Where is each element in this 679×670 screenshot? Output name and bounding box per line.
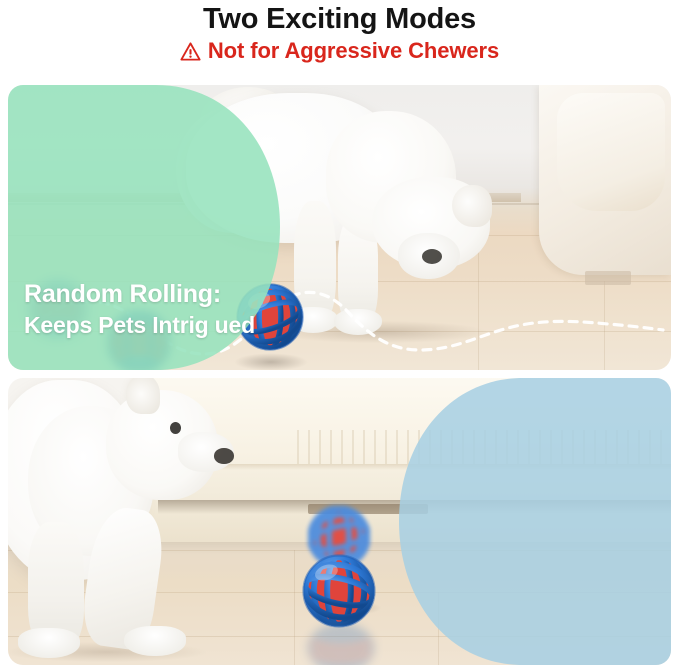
rolling-heading: Random Rolling: <box>24 279 255 310</box>
dog-samoyed-playbow <box>8 380 242 660</box>
toy-ball-bouncing-lower <box>302 554 376 628</box>
header: Two Exciting Modes Not for Aggressive Ch… <box>0 0 679 64</box>
warning-row: Not for Aggressive Chewers <box>0 38 679 64</box>
floor-plank-line <box>294 550 295 665</box>
dog-nose <box>214 448 234 464</box>
dog-eye <box>170 422 181 434</box>
sofa-armrest <box>557 93 665 211</box>
dog-paw <box>18 628 80 658</box>
warning-text: Not for Aggressive Chewers <box>208 38 499 64</box>
toy-ball-floor-reflection <box>306 622 376 665</box>
dog-ear <box>452 185 492 227</box>
panel-random-rolling: Random Rolling: Keeps Pets Intrig ued <box>8 85 671 370</box>
panel-wild-bouncing: Wild Bouncing: For Energetic Pets <box>8 378 671 665</box>
warning-triangle-icon <box>180 42 201 61</box>
dog-paw <box>124 626 186 656</box>
dog-ear <box>126 378 160 414</box>
page-title: Two Exciting Modes <box>0 2 679 36</box>
rolling-description: Keeps Pets Intrig ued <box>24 310 255 340</box>
overlay-blob-blue <box>383 378 671 665</box>
rolling-caption: Random Rolling: Keeps Pets Intrig ued <box>24 279 255 340</box>
